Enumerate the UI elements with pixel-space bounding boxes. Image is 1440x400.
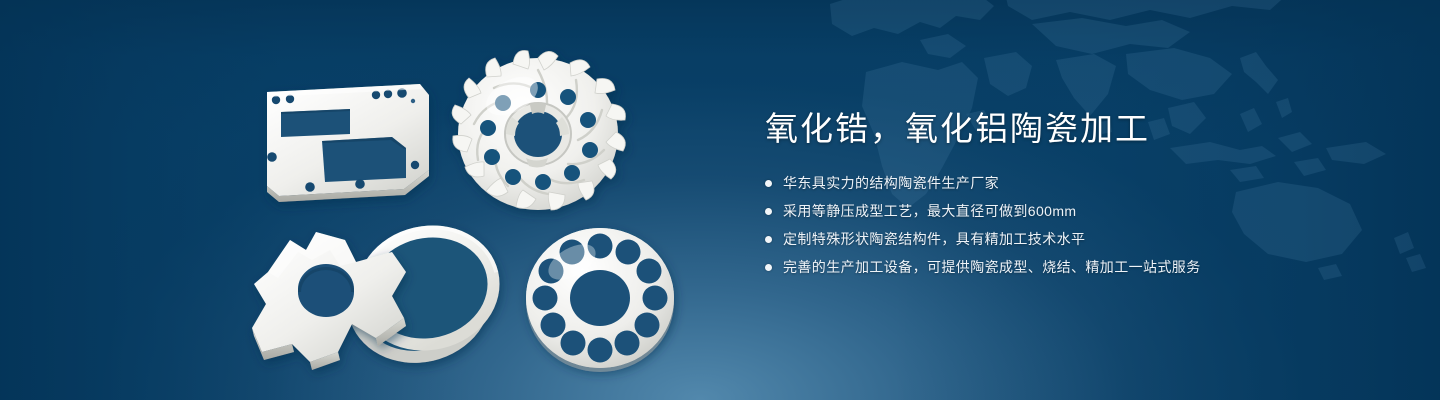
list-item: 华东具实力的结构陶瓷件生产厂家 — [765, 172, 1405, 194]
ceramic-impeller-part — [452, 51, 625, 210]
bullet-text: 完善的生产加工设备，可提供陶瓷成型、烧结、精加工一站式服务 — [783, 256, 1201, 278]
ceramic-products-photo-group — [0, 0, 740, 400]
ceramic-plate-part — [267, 84, 429, 202]
list-item: 采用等静压成型工艺，最大直径可做到600mm — [765, 200, 1405, 222]
bullet-dot-icon — [765, 208, 772, 215]
bullet-text: 采用等静压成型工艺，最大直径可做到600mm — [783, 200, 1076, 222]
ceramic-holed-disc-part — [526, 228, 674, 372]
bullet-text: 定制特殊形状陶瓷结构件，具有精加工技术水平 — [783, 228, 1085, 250]
bullet-dot-icon — [765, 264, 772, 271]
list-item: 定制特殊形状陶瓷结构件，具有精加工技术水平 — [765, 228, 1405, 250]
bullet-text: 华东具实力的结构陶瓷件生产厂家 — [783, 172, 999, 194]
list-item: 完善的生产加工设备，可提供陶瓷成型、烧结、精加工一站式服务 — [765, 256, 1405, 278]
ceramic-product-banner: 氧化锆，氧化铝陶瓷加工 华东具实力的结构陶瓷件生产厂家 采用等静压成型工艺，最大… — [0, 0, 1440, 400]
feature-bullet-list: 华东具实力的结构陶瓷件生产厂家 采用等静压成型工艺，最大直径可做到600mm 定… — [765, 172, 1405, 278]
page-title: 氧化锆，氧化铝陶瓷加工 — [765, 108, 1405, 150]
bullet-dot-icon — [765, 236, 772, 243]
bullet-dot-icon — [765, 180, 772, 187]
banner-copy-block: 氧化锆，氧化铝陶瓷加工 华东具实力的结构陶瓷件生产厂家 采用等静压成型工艺，最大… — [765, 108, 1405, 284]
